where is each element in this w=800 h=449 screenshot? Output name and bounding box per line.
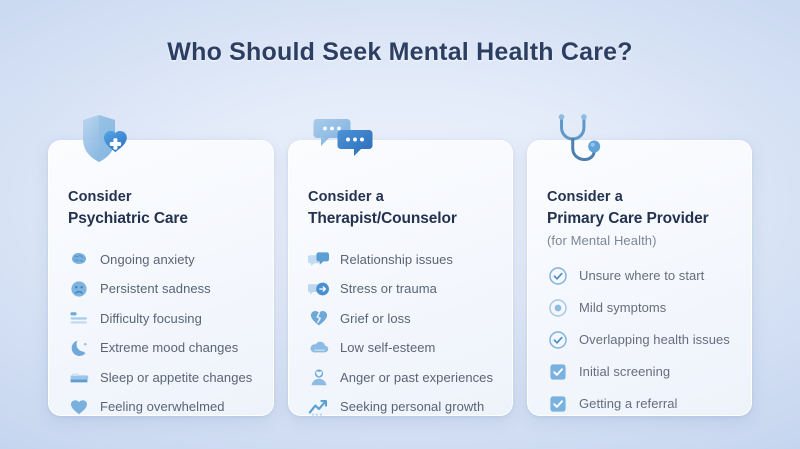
circle-check-icon — [547, 265, 569, 287]
card-psychiatric-care[interactable]: Consider Psychiatric Care Ongoing anxiet… — [48, 140, 274, 416]
two-speech-bubbles-icon — [311, 113, 385, 169]
list-item[interactable]: Getting a referral — [547, 391, 751, 417]
list-item-label: Getting a referral — [579, 396, 677, 411]
heading-line-2: Primary Care Provider — [547, 208, 751, 231]
list-item-label: Persistent sadness — [100, 281, 211, 296]
card-heading: Consider a Primary Care Provider (for Me… — [547, 187, 751, 251]
card-heading: Consider Psychiatric Care — [68, 187, 273, 231]
list-item[interactable]: Mild symptoms — [547, 295, 751, 321]
cards-row: Consider Psychiatric Care Ongoing anxiet… — [48, 140, 752, 416]
list-item-label: Stress or trauma — [340, 281, 437, 296]
heading-line-2: Psychiatric Care — [68, 208, 273, 231]
brain-icon — [68, 248, 90, 270]
list-item[interactable]: Seeking personal growth — [308, 394, 512, 419]
heading-line-1: Consider — [68, 187, 273, 208]
list-item-label: Relationship issues — [340, 252, 453, 267]
list-item[interactable]: Relationship issues — [308, 247, 512, 272]
list-item[interactable]: Ongoing anxiety — [68, 247, 273, 272]
card-therapist-counselor[interactable]: Consider a Therapist/Counselor Relations… — [288, 140, 513, 416]
list-item-label: Ongoing anxiety — [100, 252, 195, 267]
card-subheading: (for Mental Health) — [547, 232, 751, 251]
list-item-label: Extreme mood changes — [100, 340, 238, 355]
page-title: Who Should Seek Mental Health Care? — [0, 38, 800, 67]
criteria-list: Relationship issues Stress or trauma — [308, 247, 512, 420]
list-item[interactable]: Stress or trauma — [308, 276, 512, 301]
heading-line-1: Consider a — [308, 187, 512, 208]
broken-heart-icon — [308, 307, 330, 329]
cloud-icon — [308, 337, 330, 359]
list-item-label: Overlapping health issues — [579, 332, 730, 347]
list-item[interactable]: Grief or loss — [308, 306, 512, 331]
text-lines-icon — [68, 307, 90, 329]
list-item[interactable]: Sleep or appetite changes — [68, 365, 273, 390]
bubble-arrow-icon — [308, 278, 330, 300]
circle-dot-icon — [547, 297, 569, 319]
chat-bubbles-icon — [308, 248, 330, 270]
heading-line-1: Consider a — [547, 187, 751, 208]
list-item-label: Unsure where to start — [579, 268, 704, 283]
list-item[interactable]: Overlapping health issues — [547, 327, 751, 353]
list-item[interactable]: Persistent sadness — [68, 276, 273, 301]
sad-face-icon — [68, 278, 90, 300]
heart-icon — [68, 396, 90, 418]
list-item[interactable]: Initial screening — [547, 359, 751, 385]
bed-icon — [68, 366, 90, 388]
criteria-list: Ongoing anxiety Persistent sadness — [68, 247, 273, 420]
list-item[interactable]: Extreme mood changes — [68, 335, 273, 360]
card-primary-care-provider[interactable]: Consider a Primary Care Provider (for Me… — [527, 140, 752, 416]
stethoscope-icon — [546, 111, 620, 167]
growth-chart-arrow-icon — [308, 396, 330, 418]
checkbox-filled-icon — [547, 361, 569, 383]
circle-check-icon — [547, 329, 569, 351]
list-item-label: Anger or past experiences — [340, 370, 493, 385]
list-item-label: Difficulty focusing — [100, 311, 202, 326]
list-item[interactable]: Anger or past experiences — [308, 365, 512, 390]
shield-heart-cross-icon — [71, 113, 145, 169]
list-item-label: Seeking personal growth — [340, 399, 484, 414]
list-item-label: Grief or loss — [340, 311, 411, 326]
criteria-list: Unsure where to start Mild symptoms Over… — [547, 263, 751, 417]
checkbox-filled-icon — [547, 393, 569, 415]
slide-canvas: Who Should Seek Mental Health Care? — [0, 0, 800, 449]
list-item-label: Mild symptoms — [579, 300, 666, 315]
crescent-moon-icon — [68, 337, 90, 359]
list-item[interactable]: Difficulty focusing — [68, 306, 273, 331]
list-item[interactable]: Low self-esteem — [308, 335, 512, 360]
list-item-label: Sleep or appetite changes — [100, 370, 252, 385]
heading-line-2: Therapist/Counselor — [308, 208, 512, 231]
list-item-label: Feeling overwhelmed — [100, 399, 225, 414]
list-item[interactable]: Unsure where to start — [547, 263, 751, 289]
list-item-label: Initial screening — [579, 364, 670, 379]
card-heading: Consider a Therapist/Counselor — [308, 187, 512, 231]
list-item[interactable]: Feeling overwhelmed — [68, 394, 273, 419]
list-item-label: Low self-esteem — [340, 340, 435, 355]
person-heart-icon — [308, 366, 330, 388]
